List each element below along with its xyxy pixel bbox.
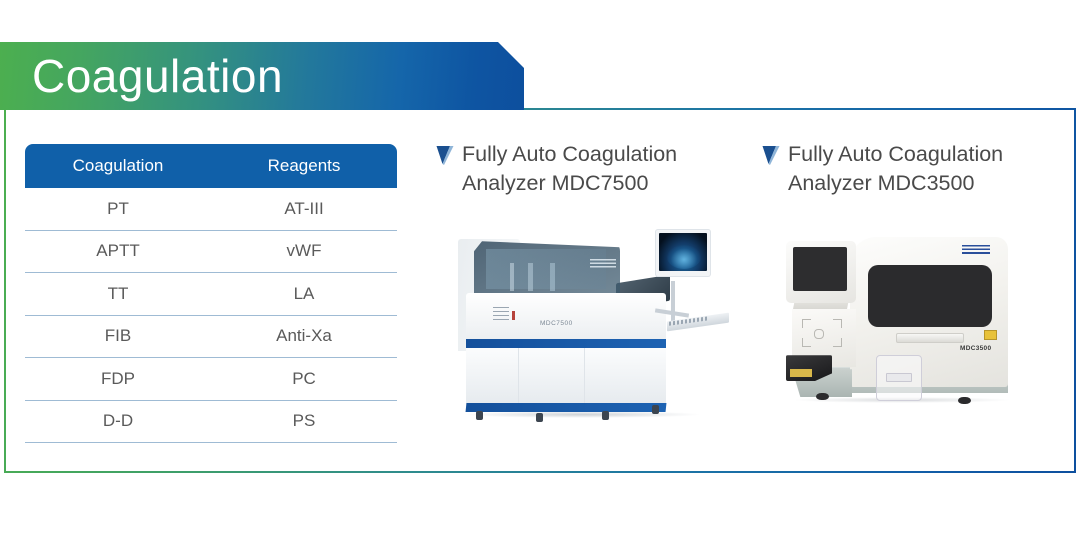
- cell-reagent: LA: [211, 273, 397, 315]
- product-title-line2: Analyzer MDC3500: [788, 171, 974, 195]
- hood-logo: [590, 259, 616, 268]
- front-dark-panel: [868, 265, 992, 327]
- page-title: Coagulation: [32, 53, 283, 99]
- product-image-mdc3500: MDC3500: [762, 209, 1072, 424]
- product-image-mdc7500: MDC7500: [436, 209, 746, 424]
- product-title-row: Fully Auto CoagulationAnalyzer MDC7500: [436, 140, 746, 197]
- cell-test: APTT: [25, 231, 211, 273]
- side-indicator: [512, 311, 515, 320]
- base-cabinet-seams: [466, 348, 666, 410]
- brand-logo: [962, 245, 990, 255]
- table-row: FDP PC: [25, 358, 397, 401]
- product-title-line1: Fully Auto Coagulation: [462, 142, 677, 166]
- product-card-mdc3500: Fully Auto CoagulationAnalyzer MDC3500 M…: [762, 140, 1072, 424]
- tray-label: [790, 369, 812, 377]
- front-drawer-slot: [896, 333, 964, 343]
- monitor-arm-post: [671, 281, 675, 325]
- header-banner: Coagulation: [0, 42, 524, 110]
- cell-reagent: vWF: [211, 231, 397, 273]
- caster-wheel: [536, 413, 543, 422]
- product-title: Fully Auto CoagulationAnalyzer MDC7500: [462, 140, 677, 197]
- cell-reagent: PC: [211, 358, 397, 400]
- caster-wheel: [476, 411, 483, 420]
- bracket-mark: [833, 319, 842, 328]
- product-title: Fully Auto CoagulationAnalyzer MDC3500: [788, 140, 1003, 197]
- analyzer-illustration: MDC3500: [772, 217, 1062, 417]
- device-model-label: MDC7500: [540, 320, 573, 327]
- bracket-mark: [802, 338, 811, 347]
- table-header-row: Coagulation Reagents: [25, 144, 397, 188]
- floor-shadow: [462, 411, 702, 418]
- blue-flag-icon: [762, 144, 782, 170]
- control-knob: [814, 329, 824, 339]
- blue-accent-stripe-lower: [466, 403, 667, 412]
- table-row: PT AT-III: [25, 188, 397, 231]
- column-header-coagulation: Coagulation: [25, 144, 211, 188]
- product-card-mdc7500: Fully Auto CoagulationAnalyzer MDC7500 M…: [436, 140, 746, 424]
- monitor-screen: [659, 233, 707, 271]
- door-handle: [886, 373, 912, 382]
- slide-root: Coagulation Coagulation Reagents PT AT-I…: [0, 0, 1080, 537]
- warning-sticker: [984, 330, 997, 340]
- cell-reagent: PS: [211, 401, 397, 443]
- cell-test: FIB: [25, 316, 211, 358]
- table-row: D-D PS: [25, 401, 397, 444]
- coagulation-reagents-table: Coagulation Reagents PT AT-III APTT vWF …: [25, 144, 397, 443]
- product-title-row: Fully Auto CoagulationAnalyzer MDC3500: [762, 140, 1072, 197]
- product-title-line1: Fully Auto Coagulation: [788, 142, 1003, 166]
- cell-reagent: Anti-Xa: [211, 316, 397, 358]
- cell-test: FDP: [25, 358, 211, 400]
- product-title-line2: Analyzer MDC7500: [462, 171, 648, 195]
- cell-test: PT: [25, 188, 211, 230]
- caster-wheel: [652, 405, 659, 414]
- analyzer-illustration: MDC7500: [440, 215, 740, 420]
- monitor-screen: [793, 247, 847, 291]
- caster-wheel: [602, 411, 609, 420]
- control-bracket-marks: [802, 319, 842, 347]
- cell-test: D-D: [25, 401, 211, 443]
- support-foot: [958, 397, 971, 404]
- blue-accent-stripe-upper: [466, 339, 666, 348]
- bracket-mark: [833, 338, 842, 347]
- cell-reagent: AT-III: [211, 188, 397, 230]
- cell-test: TT: [25, 273, 211, 315]
- blue-flag-icon: [436, 144, 456, 170]
- table-row: TT LA: [25, 273, 397, 316]
- table-row: FIB Anti-Xa: [25, 316, 397, 359]
- side-label-sticker: [493, 307, 509, 323]
- bracket-mark: [802, 319, 811, 328]
- device-model-label: MDC3500: [960, 345, 991, 352]
- table-row: APTT vWF: [25, 231, 397, 274]
- internal-mechanism: [502, 263, 580, 291]
- column-header-reagents: Reagents: [211, 144, 397, 188]
- support-foot: [816, 393, 829, 400]
